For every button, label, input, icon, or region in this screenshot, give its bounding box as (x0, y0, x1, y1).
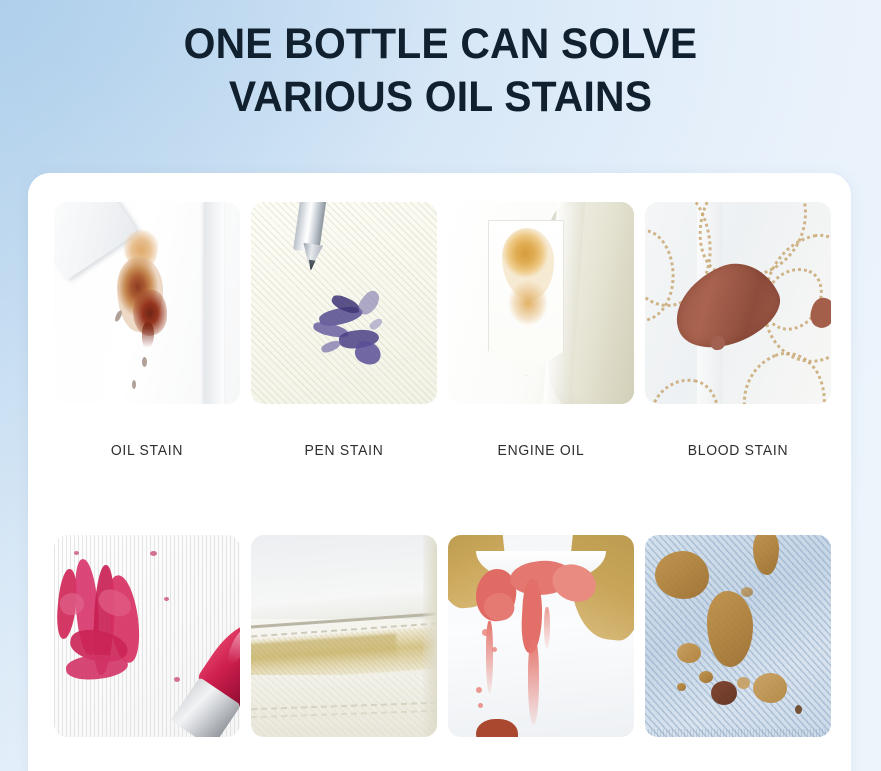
lipstick-stain-thumbnail[interactable] (54, 535, 240, 737)
fruit-juice-splash-on-white-top-photo (448, 535, 634, 737)
coffee-splatter-on-blue-denim-photo (645, 535, 831, 737)
gallery-row-2: LIPSTICK STAIN YELLOW CLOTHES (54, 535, 826, 771)
caption-oil-stain: OIL STAIN (58, 443, 237, 459)
page-title: ONE BOTTLE CAN SOLVE VARIOUS OIL STAINS (22, 18, 859, 124)
gallery-item-blood-stain[interactable]: BLOOD STAIN (645, 202, 831, 459)
coffee-stain-thumbnail[interactable] (645, 535, 831, 737)
caption-pen-stain: PEN STAIN (255, 443, 434, 459)
caption-blood-stain: BLOOD STAIN (649, 443, 828, 459)
gallery-item-pen-stain[interactable]: PEN STAIN (251, 202, 437, 459)
lipstick-smear-on-white-fabric-photo (54, 535, 240, 737)
fruit-stain-thumbnail[interactable] (448, 535, 634, 737)
gallery-item-oil-stain[interactable]: OIL STAIN (54, 202, 240, 459)
stain-gallery-card: OIL STAIN PEN STAIN (28, 173, 851, 771)
engine-oil-stain-on-shirt-pocket-photo (448, 202, 634, 404)
gallery-item-yellow-clothes[interactable]: YELLOW CLOTHES (251, 535, 437, 771)
gallery-row-1: OIL STAIN PEN STAIN (54, 202, 826, 459)
page-title-line-1: ONE BOTTLE CAN SOLVE (22, 18, 859, 71)
gallery-item-engine-oil[interactable]: ENGINE OIL (448, 202, 634, 459)
oil-stain-thumbnail[interactable] (54, 202, 240, 404)
blood-stain-on-paisley-fabric-photo (645, 202, 831, 404)
caption-engine-oil: ENGINE OIL (452, 443, 631, 459)
page-title-line-2: VARIOUS OIL STAINS (22, 71, 859, 124)
engine-oil-thumbnail[interactable] (448, 202, 634, 404)
pen-stain-thumbnail[interactable] (251, 202, 437, 404)
yellowed-collar-on-white-garment-photo (251, 535, 437, 737)
yellow-clothes-thumbnail[interactable] (251, 535, 437, 737)
gallery-item-lipstick-stain[interactable]: LIPSTICK STAIN (54, 535, 240, 771)
stain-gallery-grid: OIL STAIN PEN STAIN (54, 202, 826, 771)
pen-ink-stain-on-fabric-photo (251, 202, 437, 404)
blood-stain-thumbnail[interactable] (645, 202, 831, 404)
gallery-item-coffee-stain[interactable]: COFFEE STAIN (645, 535, 831, 771)
oil-stain-on-white-shirt-photo (54, 202, 240, 404)
gallery-item-fruit-stain[interactable]: FRUIT STAIN (448, 535, 634, 771)
